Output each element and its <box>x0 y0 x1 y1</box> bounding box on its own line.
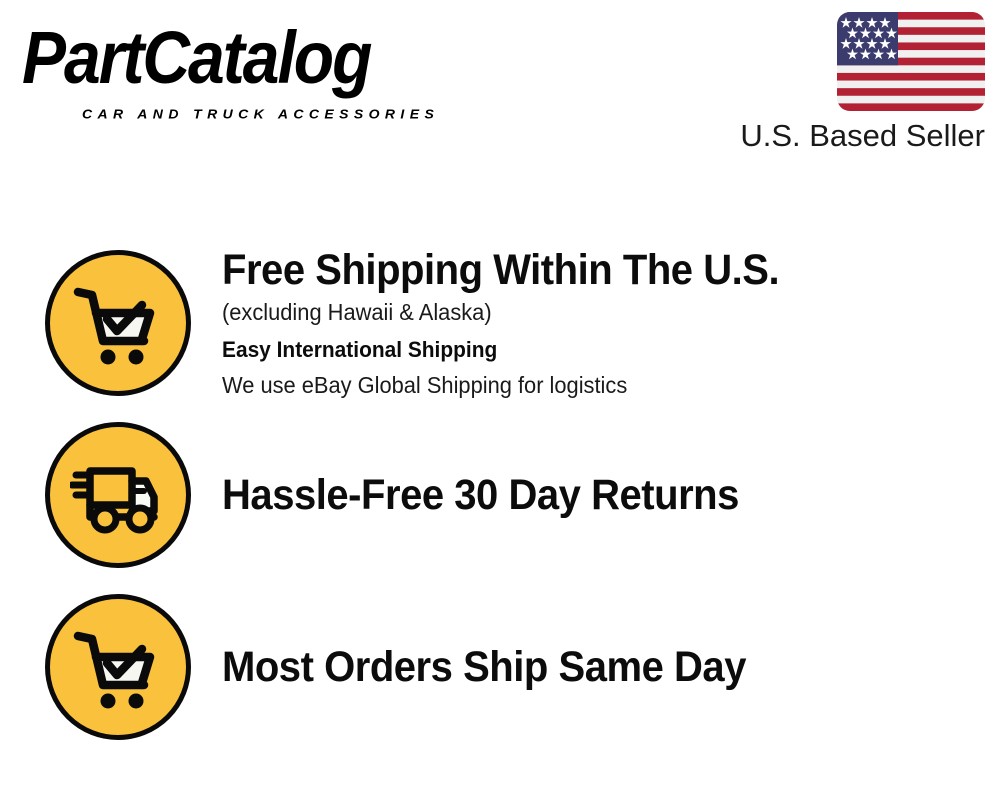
benefit-sub-heading: Easy International Shipping <box>222 333 942 367</box>
benefit-row: Hassle-Free 30 Day Returns <box>0 410 1000 580</box>
us-flag-icon <box>837 12 985 111</box>
benefit-row: Most Orders Ship Same Day <box>0 582 1000 752</box>
brand-tagline: CAR AND TRUCK ACCESSORIES <box>82 106 439 121</box>
benefit-row: Free Shipping Within The U.S. (excluding… <box>0 238 1000 408</box>
shopping-cart-check-icon <box>45 250 191 396</box>
brand-logo[interactable]: PartCatalog CAR AND TRUCK ACCESSORIES <box>22 18 492 118</box>
benefit-text: Hassle-Free 30 Day Returns <box>222 470 1000 520</box>
benefit-headline: Most Orders Ship Same Day <box>222 642 927 692</box>
seller-badge-label: U.S. Based Seller <box>715 119 985 153</box>
benefit-text: Free Shipping Within The U.S. (excluding… <box>222 245 1000 402</box>
benefit-text: Most Orders Ship Same Day <box>222 642 1000 692</box>
brand-wordmark: PartCatalog <box>22 18 492 96</box>
page-header: PartCatalog CAR AND TRUCK ACCESSORIES <box>0 0 1000 180</box>
benefit-headline: Hassle-Free 30 Day Returns <box>222 470 927 520</box>
seller-badge: U.S. Based Seller <box>715 12 985 153</box>
benefit-headline: Free Shipping Within The U.S. <box>222 245 927 295</box>
benefit-sub-detail: We use eBay Global Shipping for logistic… <box>222 368 942 402</box>
delivery-truck-icon <box>45 422 191 568</box>
benefit-subline: (excluding Hawaii & Alaska) <box>222 295 942 329</box>
shopping-cart-check-icon <box>45 594 191 740</box>
